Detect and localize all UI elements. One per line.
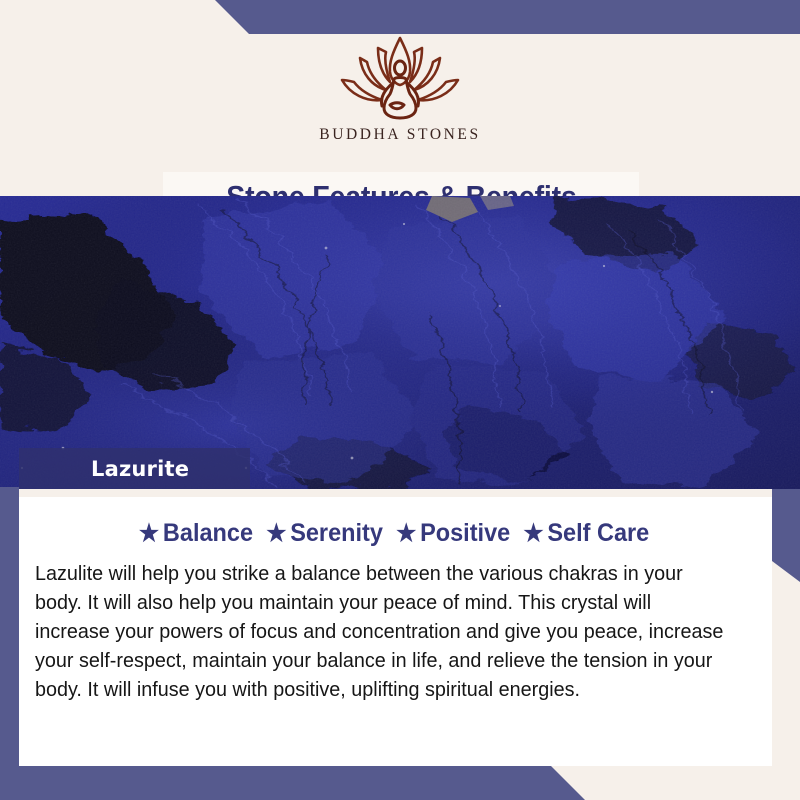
brand-logo: BUDDHA STONES: [295, 32, 505, 144]
keyword-positive: Positive: [417, 519, 514, 547]
stone-caption: Lazurite: [19, 448, 250, 489]
left-accent-rail: [0, 487, 19, 766]
stone-description: Lazulite will help you strike a balance …: [35, 559, 731, 704]
keyword-self-care: Self Care: [545, 519, 653, 547]
keyword-list: ★Balance★Serenity★Positive★Self Care: [42, 519, 750, 548]
keyword-serenity: Serenity: [287, 519, 386, 547]
poster-header: BUDDHA STONES Stone Features & Benefits: [0, 26, 800, 196]
brand-name: BUDDHA STONES: [295, 126, 505, 144]
poster-root: BUDDHA STONES Stone Features & Benefits: [0, 0, 800, 800]
star-icon: ★: [522, 520, 544, 547]
lotus-meditation-icon: [334, 32, 466, 124]
star-icon: ★: [138, 520, 160, 547]
star-icon: ★: [395, 520, 417, 547]
stone-caption-label: Lazurite: [91, 457, 189, 481]
content-card: ★Balance★Serenity★Positive★Self Care Laz…: [19, 497, 772, 766]
stone-photo: [0, 196, 800, 489]
star-icon: ★: [265, 520, 287, 547]
keyword-balance: Balance: [160, 519, 257, 547]
